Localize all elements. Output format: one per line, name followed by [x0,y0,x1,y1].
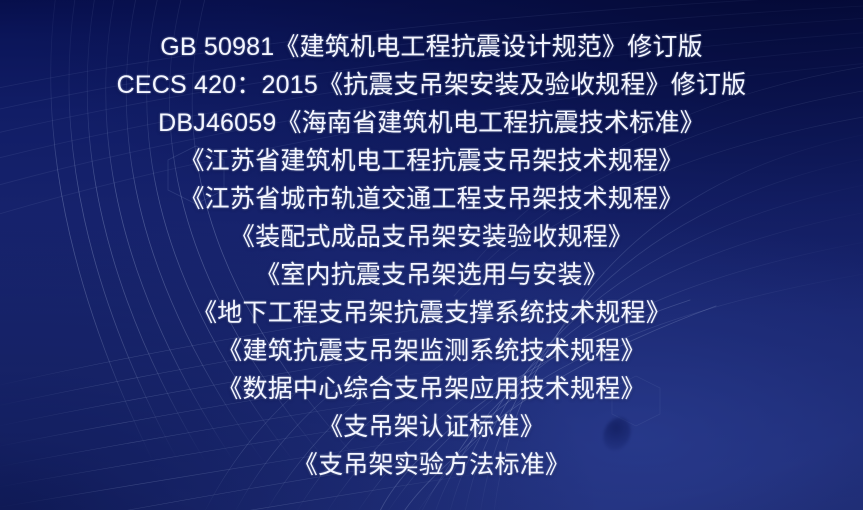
standard-line: 《建筑抗震支吊架监测系统技术规程》 [217,332,645,370]
standard-line: 《支吊架认证标准》 [318,408,545,446]
standard-line: 《装配式成品支吊架安装验收规程》 [230,218,633,256]
presentation-slide: GB 50981《建筑机电工程抗震设计规范》修订版 CECS 420：2015《… [0,0,863,510]
standard-line: 《室内抗震支吊架选用与安装》 [255,256,608,294]
standard-line: CECS 420：2015《抗震支吊架安装及验收规程》修订版 [117,66,747,104]
standard-line: 《江苏省城市轨道交通工程支吊架技术规程》 [179,180,683,218]
standard-line: 《江苏省建筑机电工程抗震支吊架技术规程》 [179,142,683,180]
standard-line: 《数据中心综合支吊架应用技术规程》 [217,370,645,408]
standards-list: GB 50981《建筑机电工程抗震设计规范》修订版 CECS 420：2015《… [0,28,863,484]
standard-line: DBJ46059《海南省建筑机电工程抗震技术标准》 [158,104,705,142]
standard-line: 《支吊架实验方法标准》 [293,446,570,484]
standard-line: 《地下工程支吊架抗震支撑系统技术规程》 [192,294,671,332]
standard-line: GB 50981《建筑机电工程抗震设计规范》修订版 [160,28,703,66]
